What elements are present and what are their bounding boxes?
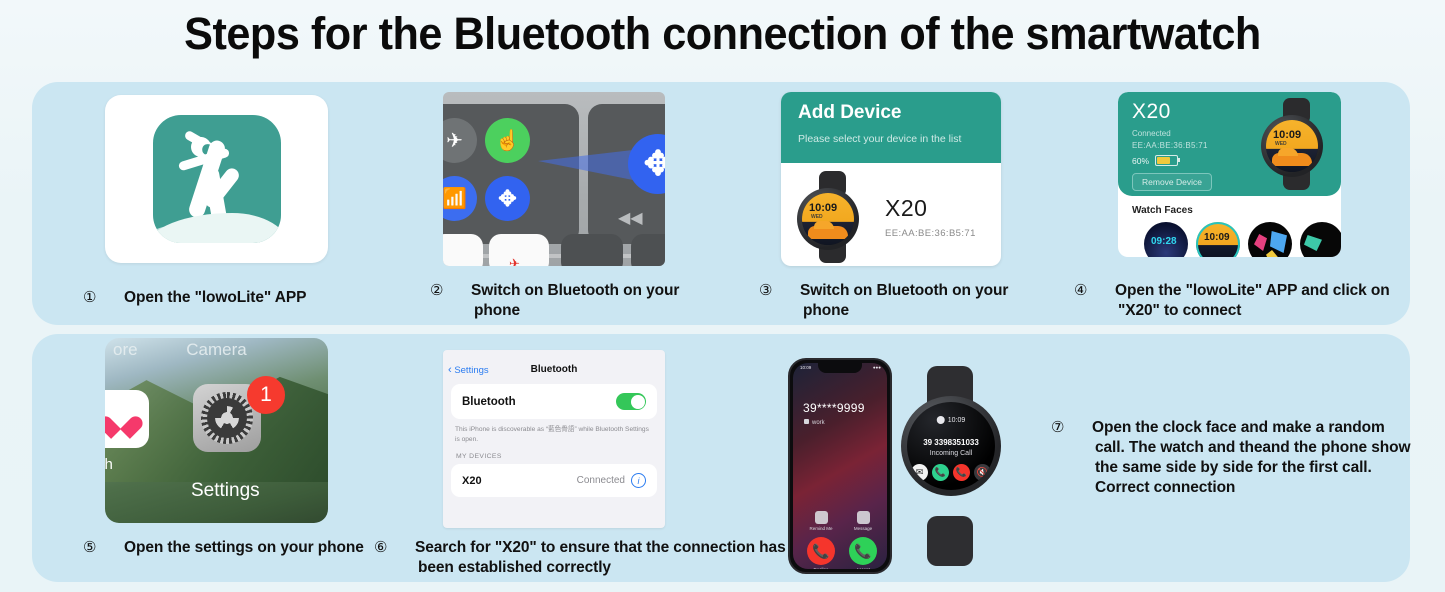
remind-me-button[interactable]: Remind Me [801,511,841,531]
watch-band-bottom [927,516,973,566]
step-7-screenshot-incoming-call: 10:09 ●●● 39****9999 work Remind Me Mess… [785,352,1007,580]
step-4-screenshot-device-connected: X20 Connected EE:AA:BE:36:B5:71 60% Remo… [1118,92,1341,257]
watch-message-icon[interactable]: ✉ [911,464,928,481]
flashlight-tile[interactable] [443,234,483,266]
accept-label: Accept [849,567,877,569]
phone-caller-label: work [804,419,825,426]
step-2-caption-text: Switch on Bluetooth on your phone [471,282,679,319]
step-1-number: ① [105,288,124,308]
remind-me-label: Remind Me [809,526,832,531]
message-icon [857,511,870,524]
page-title: Steps for the Bluetooth connection of th… [29,8,1416,60]
phone-screen: 10:09 ●●● 39****9999 work Remind Me Mess… [793,363,887,569]
step-3-caption: ③Switch on Bluetooth on your phone [781,281,1053,321]
my-devices-header: MY DEVICES [456,453,665,460]
clock-icon [937,416,945,424]
add-device-title: Add Device [798,102,1001,124]
bluetooth-navbar: ‹ Settings Bluetooth [443,350,665,380]
timer-tile[interactable] [561,234,623,266]
watch-call-label: Incoming Call [907,450,995,457]
watch-case: 10:09 WED [797,188,859,250]
watch-case: 10:09 39 3398351033 Incoming Call ✉ 📞 📞 … [901,396,1001,496]
add-device-list-item[interactable]: 10:09 WED X20 EE:AA:BE:36:B5:71 [781,163,1001,263]
paired-device-row[interactable]: X20 Connected i [451,464,657,497]
bluetooth-toggle[interactable] [616,393,646,410]
bluetooth-toggle-row[interactable]: Bluetooth [451,384,657,419]
watch-decline-icon[interactable]: 📞 [953,464,970,481]
step-1-caption: ①Open the "lowoLite" APP [105,288,417,308]
infographic-page: Steps for the Bluetooth connection of th… [0,0,1445,592]
homescreen-partial-label: ore [113,340,138,360]
step-7-caption-text: Open the clock face and make a random ca… [1092,419,1410,496]
step-7-number: ⑦ [1073,418,1092,438]
add-device-mac: EE:AA:BE:36:B5:71 [885,228,976,239]
watch-face: 10:09 WED [802,193,854,245]
phone-down-icon: 📞 [812,543,829,560]
watch-face-option-worldmap[interactable] [1248,222,1292,257]
paired-device-right: Connected i [577,473,646,488]
watch-face-day: WED [1275,141,1287,147]
watch-time-text: 10:09 [948,417,966,424]
step-2-caption: ②Switch on Bluetooth on your phone [452,281,724,321]
camera-label: Camera [186,340,246,359]
add-device-name: X20 [885,195,976,222]
accept-call-button[interactable]: 📞 [849,537,877,565]
watch-face-time: 10:09 [1273,129,1301,141]
watch-faces-list [1144,222,1341,257]
message-button[interactable]: Message [843,511,883,531]
step-4-caption-text: Open the "lowoLite" APP and click on "X2… [1115,282,1390,319]
watch-face-time: 10:09 [809,202,837,214]
step-6-caption-text: Search for "X20" to ensure that the conn… [415,539,786,576]
control-center-bottom-row: ✈ [443,230,665,266]
bluetooth-nav-title: Bluetooth [443,364,665,375]
info-icon[interactable]: i [631,473,646,488]
decline-label: Decline [807,567,835,569]
calculator-tile[interactable] [631,234,665,266]
step-6-caption: ⑥Search for "X20" to ensure that the con… [396,538,788,578]
watch-device: 10:09 39 3398351033 Incoming Call ✉ 📞 📞 … [897,366,1005,566]
step-1-screenshot-lowolite-app-icon [105,95,328,263]
paired-device-name: X20 [462,475,482,487]
battery-icon [1155,155,1178,166]
homescreen-top-labels: ore Camera [105,340,328,360]
watch-case: 10:09 WED [1261,115,1323,177]
watch-faces-label: Watch Faces [1132,205,1341,216]
step-1-caption-text: Open the "lowoLite" APP [124,289,306,306]
step-6-number: ⑥ [396,538,415,558]
rewind-icon[interactable]: ◀◀ [618,208,643,228]
watch-face-option-starfield[interactable] [1144,222,1188,257]
step-3-number: ③ [781,281,800,301]
add-device-header: Add Device Please select your device in … [781,92,1001,163]
connected-watch-image: 10:09 WED [1253,98,1333,190]
phone-icon: 📞 [854,543,871,560]
watch-thumbnail: 10:09 WED [789,171,871,263]
step-3-screenshot-add-device: Add Device Please select your device in … [781,92,1001,266]
step-6-screenshot-ios-bluetooth-settings: ‹ Settings Bluetooth Bluetooth This iPho… [443,350,665,528]
step-4-caption: ④Open the "lowoLite" APP and click on "X… [1096,281,1418,321]
phone-caller-number: 39****9999 [803,401,865,415]
bluetooth-icon[interactable]: ✥ [485,176,530,221]
watch-screen: 10:09 39 3398351033 Incoming Call ✉ 📞 📞 … [907,402,995,490]
add-device-subtitle: Please select your device in the list [798,133,1001,145]
watch-mute-icon[interactable]: 🔇 [974,464,991,481]
discoverable-note: This iPhone is discoverable as “藍色骨語” wh… [455,425,653,444]
wifi-icon: 📶 [443,176,477,221]
step-2-screenshot-ios-control-center: ✈ ☝ 📶 ✥ △ ◀◀ ▶▶ ▶ ✥ ✈ [443,92,665,266]
step-2-number: ② [452,281,471,301]
message-label: Message [854,526,872,531]
settings-app-label: Settings [191,480,260,502]
step-5-number: ⑤ [105,538,124,558]
phone-status-icons: ●●● [873,365,881,370]
watch-face-day: WED [811,214,823,220]
watch-face-option-partial[interactable] [1300,222,1341,257]
watch-accept-icon[interactable]: 📞 [932,464,949,481]
watch-face-option-sportscar[interactable] [1196,222,1240,257]
phone-status-time: 10:09 [800,365,811,370]
step-5-screenshot-ios-homescreen: ore Camera lth 1 Settings [105,338,328,523]
step-5-caption-text: Open the settings on your phone [124,539,364,556]
watch-caller-number: 39 3398351033 [907,438,995,447]
watch-face-car [808,226,848,239]
lowolite-app-icon [153,115,281,243]
camera-tile[interactable]: ✈ [489,234,549,266]
watch-face-car [1272,153,1312,166]
phone-device: 10:09 ●●● 39****9999 work Remind Me Mess… [788,358,892,574]
step-5-caption: ⑤Open the settings on your phone [105,538,377,558]
bell-icon [815,511,828,524]
icon-wave-front [153,213,281,243]
step-3-caption-text: Switch on Bluetooth on your phone [800,282,1008,319]
settings-badge: 1 [247,376,285,414]
heart-icon [107,407,134,432]
phone-notch [818,363,862,373]
cellular-data-icon: ☝ [485,118,530,163]
step-4-number: ④ [1096,281,1115,301]
decline-call-button[interactable]: 📞 [807,537,835,565]
health-app-icon[interactable] [105,390,149,448]
health-app-label: lth [105,456,113,473]
watch-call-actions: ✉ 📞 📞 🔇 [907,464,995,481]
connected-device-header: X20 Connected EE:AA:BE:36:B5:71 60% Remo… [1118,92,1341,196]
airplane-mode-icon: ✈ [443,118,477,163]
paired-device-status: Connected [577,475,625,486]
add-device-info: X20 EE:AA:BE:36:B5:71 [885,195,976,239]
watch-thumbnail: 10:09 WED [1253,98,1333,190]
watch-face: 10:09 WED [1266,120,1318,172]
watch-status-time: 10:09 [937,416,966,424]
gear-icon [201,392,253,444]
step-7-caption: ⑦Open the clock face and make a random c… [1073,418,1415,498]
battery-percent: 60% [1132,156,1149,166]
remove-device-button[interactable]: Remove Device [1132,173,1212,191]
bluetooth-row-label: Bluetooth [462,396,516,408]
